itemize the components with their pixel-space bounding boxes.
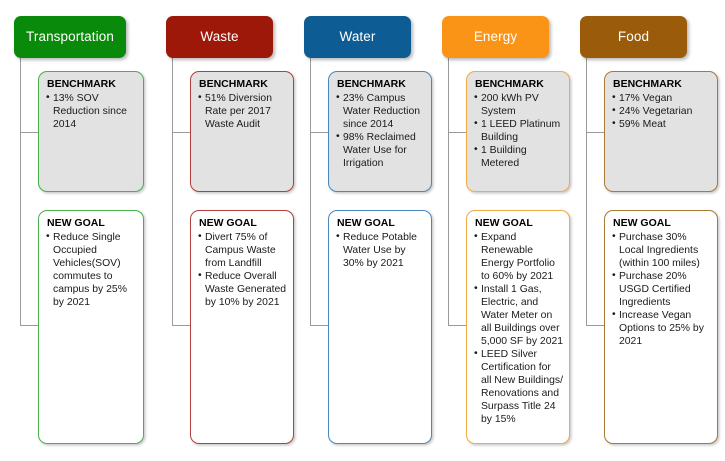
benchmark-card-transportation: BENCHMARK•13% SOV Reduction since 2014	[38, 71, 144, 192]
bullet-item: •Expand Renewable Energy Portfolio to 60…	[474, 231, 564, 283]
bullet-dot-icon: •	[336, 130, 340, 143]
category-column-transportation: TransportationBENCHMARK•13% SOV Reductio…	[0, 0, 150, 461]
benchmark-card-title: BENCHMARK	[613, 78, 712, 91]
connector-branch-line	[310, 132, 329, 133]
benchmark-card-waste: BENCHMARK•51% Diversion Rate per 2017 Wa…	[190, 71, 294, 192]
newgoal-bullet-list: •Reduce Single Occupied Vehicles(SOV) co…	[46, 231, 138, 309]
bullet-item: •23% Campus Water Reduction since 2014	[336, 92, 426, 131]
category-header-label: Transportation	[26, 30, 114, 45]
bullet-text: Expand Renewable Energy Portfolio to 60%…	[481, 232, 555, 282]
connector-branch-line	[20, 132, 39, 133]
bullet-dot-icon: •	[198, 269, 202, 282]
bullet-item: •Install 1 Gas, Electric, and Water Mete…	[474, 283, 564, 348]
benchmark-bullet-list: •200 kWh PV System•1 LEED Platinum Build…	[474, 92, 564, 170]
category-header-label: Water	[339, 30, 375, 45]
newgoal-card-title: NEW GOAL	[47, 217, 138, 230]
benchmark-bullet-list: •23% Campus Water Reduction since 2014•9…	[336, 92, 426, 170]
bullet-dot-icon: •	[336, 91, 340, 104]
bullet-text: 51% Diversion Rate per 2017 Waste Audit	[205, 93, 272, 130]
newgoal-card-title: NEW GOAL	[613, 217, 712, 230]
newgoal-card-food: NEW GOAL•Purchase 30% Local Ingredients …	[604, 210, 718, 444]
newgoal-card-waste: NEW GOAL•Divert 75% of Campus Waste from…	[190, 210, 294, 444]
newgoal-bullet-list: •Expand Renewable Energy Portfolio to 60…	[474, 231, 564, 426]
bullet-item: •51% Diversion Rate per 2017 Waste Audit	[198, 92, 288, 131]
benchmark-card-title: BENCHMARK	[199, 78, 288, 91]
bullet-dot-icon: •	[198, 91, 202, 104]
category-column-water: WaterBENCHMARK•23% Campus Water Reductio…	[290, 0, 430, 461]
bullet-item: •17% Vegan	[612, 92, 712, 105]
benchmark-bullet-list: •13% SOV Reduction since 2014	[46, 92, 138, 131]
connector-branch-line	[20, 325, 39, 326]
bullet-text: Reduce Overall Waste Generated by 10% by…	[205, 271, 286, 308]
sustainability-goals-diagram: TransportationBENCHMARK•13% SOV Reductio…	[0, 0, 725, 461]
bullet-dot-icon: •	[612, 269, 616, 282]
bullet-dot-icon: •	[612, 230, 616, 243]
bullet-text: 17% Vegan	[619, 93, 672, 104]
bullet-item: •Divert 75% of Campus Waste from Landfil…	[198, 231, 288, 270]
bullet-item: •1 LEED Platinum Building	[474, 118, 564, 144]
category-column-waste: WasteBENCHMARK•51% Diversion Rate per 20…	[152, 0, 292, 461]
bullet-dot-icon: •	[474, 347, 478, 360]
bullet-dot-icon: •	[198, 230, 202, 243]
connector-branch-line	[172, 325, 191, 326]
bullet-item: •24% Vegetarian	[612, 105, 712, 118]
category-column-energy: EnergyBENCHMARK•200 kWh PV System•1 LEED…	[428, 0, 568, 461]
newgoal-card-title: NEW GOAL	[475, 217, 564, 230]
bullet-dot-icon: •	[474, 282, 478, 295]
bullet-dot-icon: •	[336, 230, 340, 243]
category-column-food: FoodBENCHMARK•17% Vegan•24% Vegetarian•5…	[566, 0, 725, 461]
bullet-text: 24% Vegetarian	[619, 106, 692, 117]
bullet-dot-icon: •	[474, 143, 478, 156]
connector-trunk-line	[448, 58, 449, 325]
bullet-item: •LEED Silver Certification for all New B…	[474, 348, 564, 426]
connector-trunk-line	[20, 58, 21, 325]
bullet-dot-icon: •	[474, 230, 478, 243]
bullet-text: 59% Meat	[619, 119, 666, 130]
bullet-dot-icon: •	[612, 308, 616, 321]
bullet-text: Reduce Potable Water Use by 30% by 2021	[343, 232, 417, 269]
bullet-dot-icon: •	[46, 230, 50, 243]
newgoal-bullet-list: •Reduce Potable Water Use by 30% by 2021	[336, 231, 426, 270]
category-header-label: Food	[618, 30, 649, 45]
connector-branch-line	[448, 132, 467, 133]
bullet-dot-icon: •	[612, 91, 616, 104]
bullet-dot-icon: •	[474, 117, 478, 130]
bullet-text: 13% SOV Reduction since 2014	[53, 93, 127, 130]
bullet-item: •Purchase 20% USGD Certified Ingredients	[612, 270, 712, 309]
connector-branch-line	[172, 132, 191, 133]
bullet-item: •98% Reclaimed Water Use for Irrigation	[336, 131, 426, 170]
bullet-text: Install 1 Gas, Electric, and Water Meter…	[481, 284, 563, 347]
newgoal-card-water: NEW GOAL•Reduce Potable Water Use by 30%…	[328, 210, 432, 444]
bullet-item: •1 Building Metered	[474, 144, 564, 170]
bullet-item: •Purchase 30% Local Ingredients (within …	[612, 231, 712, 270]
category-header-water[interactable]: Water	[304, 16, 411, 58]
bullet-item: •59% Meat	[612, 118, 712, 131]
bullet-text: Reduce Single Occupied Vehicles(SOV) com…	[53, 232, 127, 308]
bullet-text: 1 Building Metered	[481, 145, 527, 169]
bullet-item: •Reduce Overall Waste Generated by 10% b…	[198, 270, 288, 309]
newgoal-bullet-list: •Divert 75% of Campus Waste from Landfil…	[198, 231, 288, 309]
newgoal-card-title: NEW GOAL	[199, 217, 288, 230]
bullet-text: Increase Vegan Options to 25% by 2021	[619, 310, 704, 347]
bullet-text: 1 LEED Platinum Building	[481, 119, 560, 143]
benchmark-bullet-list: •51% Diversion Rate per 2017 Waste Audit	[198, 92, 288, 131]
benchmark-card-title: BENCHMARK	[337, 78, 426, 91]
bullet-item: •Reduce Single Occupied Vehicles(SOV) co…	[46, 231, 138, 309]
benchmark-card-water: BENCHMARK•23% Campus Water Reduction sin…	[328, 71, 432, 192]
benchmark-card-energy: BENCHMARK•200 kWh PV System•1 LEED Plati…	[466, 71, 570, 192]
category-header-food[interactable]: Food	[580, 16, 687, 58]
bullet-item: •Reduce Potable Water Use by 30% by 2021	[336, 231, 426, 270]
bullet-text: Purchase 20% USGD Certified Ingredients	[619, 271, 691, 308]
connector-branch-line	[448, 325, 467, 326]
category-header-waste[interactable]: Waste	[166, 16, 273, 58]
bullet-dot-icon: •	[474, 91, 478, 104]
connector-trunk-line	[586, 58, 587, 325]
bullet-text: LEED Silver Certification for all New Bu…	[481, 349, 563, 425]
bullet-text: Purchase 30% Local Ingredients (within 1…	[619, 232, 700, 269]
bullet-text: 200 kWh PV System	[481, 93, 539, 117]
bullet-dot-icon: •	[612, 104, 616, 117]
bullet-text: 98% Reclaimed Water Use for Irrigation	[343, 132, 416, 169]
bullet-dot-icon: •	[46, 91, 50, 104]
benchmark-bullet-list: •17% Vegan•24% Vegetarian•59% Meat	[612, 92, 712, 131]
category-header-energy[interactable]: Energy	[442, 16, 549, 58]
connector-branch-line	[586, 132, 605, 133]
connector-branch-line	[310, 325, 329, 326]
connector-branch-line	[586, 325, 605, 326]
newgoal-card-title: NEW GOAL	[337, 217, 426, 230]
newgoal-bullet-list: •Purchase 30% Local Ingredients (within …	[612, 231, 712, 348]
category-header-transportation[interactable]: Transportation	[14, 16, 126, 58]
newgoal-card-energy: NEW GOAL•Expand Renewable Energy Portfol…	[466, 210, 570, 444]
bullet-item: •200 kWh PV System	[474, 92, 564, 118]
category-header-label: Energy	[474, 30, 517, 45]
benchmark-card-title: BENCHMARK	[475, 78, 564, 91]
bullet-text: 23% Campus Water Reduction since 2014	[343, 93, 420, 130]
connector-trunk-line	[172, 58, 173, 325]
bullet-dot-icon: •	[612, 117, 616, 130]
newgoal-card-transportation: NEW GOAL•Reduce Single Occupied Vehicles…	[38, 210, 144, 444]
benchmark-card-title: BENCHMARK	[47, 78, 138, 91]
bullet-text: Divert 75% of Campus Waste from Landfill	[205, 232, 276, 269]
bullet-item: •Increase Vegan Options to 25% by 2021	[612, 309, 712, 348]
benchmark-card-food: BENCHMARK•17% Vegan•24% Vegetarian•59% M…	[604, 71, 718, 192]
connector-trunk-line	[310, 58, 311, 325]
bullet-item: •13% SOV Reduction since 2014	[46, 92, 138, 131]
category-header-label: Waste	[200, 30, 238, 45]
